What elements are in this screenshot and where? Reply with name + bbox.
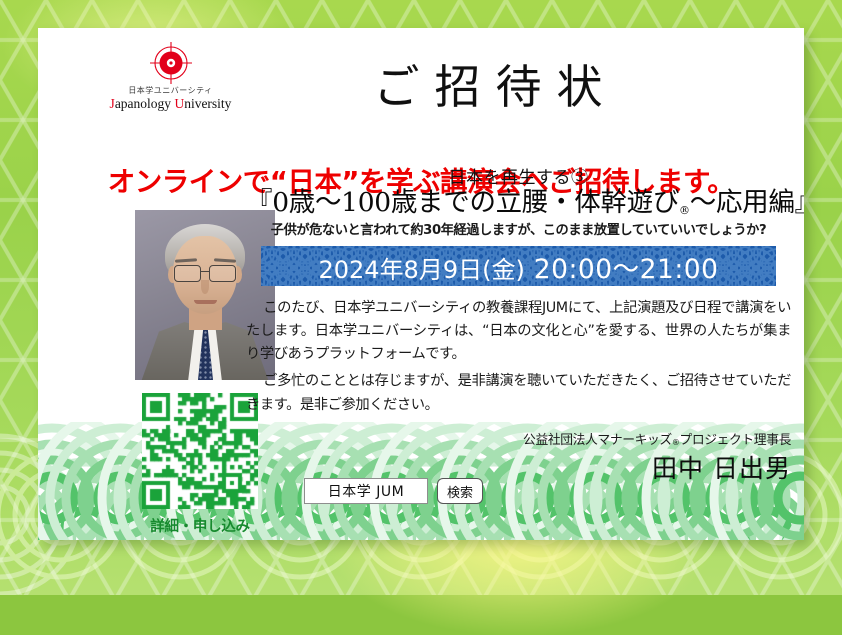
logo-en-niversity: niversity xyxy=(184,96,231,111)
registered-mark: ® xyxy=(679,204,690,217)
page-title: ご招待状 xyxy=(278,64,698,110)
signature-block: 公益社団法人マナーキッズ®プロジェクト理事長 田中 日出男 xyxy=(246,429,791,485)
target-circle-icon xyxy=(148,40,194,86)
lecture-title-main: 『0歳〜100歳までの立腰・体幹遊び xyxy=(246,187,679,218)
content-column: 日本を再生する③ 『0歳〜100歳までの立腰・体幹遊び®〜応用編』 子供が危ない… xyxy=(246,168,791,485)
qr-caption: 詳細・申し込み xyxy=(126,515,274,536)
banner-time: 20:00〜21:00 xyxy=(534,254,719,285)
date-banner: 2024年8月9日(金) 20:00〜21:00 xyxy=(261,246,776,286)
body-paragraph-1: このたび、日本学ユニバーシティの教養課程JUMにて、上記演題及び日程で講演をいた… xyxy=(246,297,791,366)
invitation-card: 日本学ユニバーシティ Japanology University ご招待状 オン… xyxy=(38,28,804,540)
logo-jp-name: 日本学ユニバーシティ xyxy=(98,87,243,96)
banner-date: 2024年8月9日(金) xyxy=(318,256,524,284)
body-text: このたび、日本学ユニバーシティの教養課程JUMにて、上記演題及び日程で講演をいた… xyxy=(246,297,791,417)
signature-org: 公益社団法人マナーキッズ®プロジェクト理事長 xyxy=(246,429,791,448)
signature-name: 田中 日出男 xyxy=(246,449,791,485)
lecture-title: 『0歳〜100歳までの立腰・体幹遊び®〜応用編』 xyxy=(246,188,791,218)
logo-en-apanology: apanology xyxy=(115,96,175,111)
logo-en-u: U xyxy=(174,96,184,111)
signature-org-before: 公益社団法人マナーキッズ xyxy=(523,433,672,448)
banner-text: 2024年8月9日(金) 20:00〜21:00 xyxy=(318,247,718,286)
qr-code[interactable] xyxy=(142,393,258,509)
university-logo: 日本学ユニバーシティ Japanology University xyxy=(98,40,243,111)
logo-en-name: Japanology University xyxy=(98,96,243,112)
lecture-title-tail: 〜応用編』 xyxy=(690,187,804,218)
body-paragraph-2: ご多忙のこととは存じますが、是非講演を聴いていただきたく、ご招待させていただきま… xyxy=(246,370,791,416)
tagline: 子供が危ないと言われて約30年経過しますが、このまま放置していていいでしょうか? xyxy=(246,222,791,239)
signature-org-after: プロジェクト理事長 xyxy=(679,433,791,448)
series-label: 日本を再生する③ xyxy=(246,168,791,188)
